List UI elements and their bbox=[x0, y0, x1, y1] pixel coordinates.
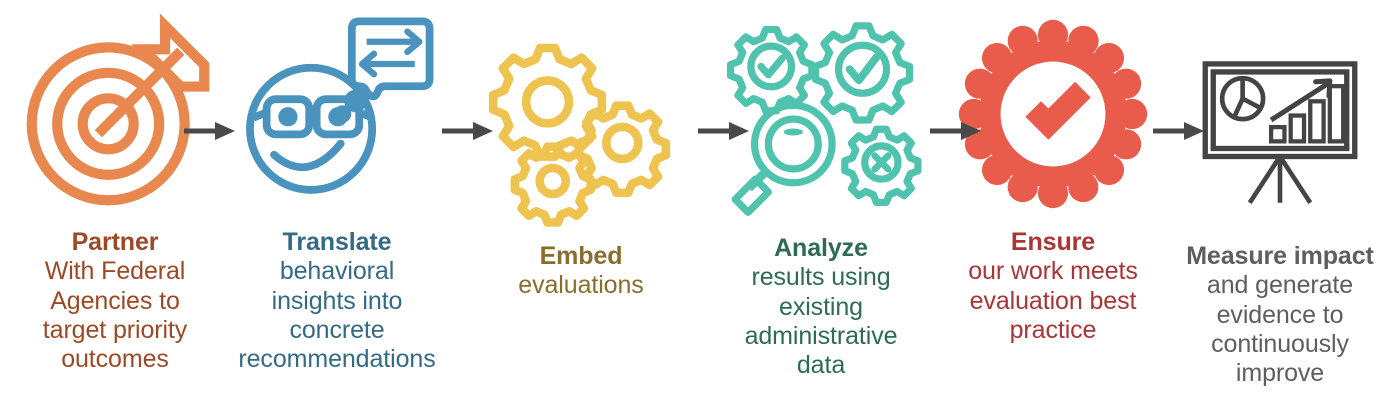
caption-line: practice bbox=[948, 316, 1158, 345]
caption-partner: Partner With Federal Agencies to target … bbox=[0, 228, 230, 374]
caption-analyze: Analyze results using existing administr… bbox=[710, 234, 932, 380]
caption-ensure: Ensure our work meets evaluation best pr… bbox=[948, 228, 1158, 345]
caption-line: administrative bbox=[710, 322, 932, 351]
caption-lead-measure: Measure impact bbox=[1168, 242, 1392, 271]
caption-line: outcomes bbox=[0, 345, 230, 374]
arrow-ensure-to-measure bbox=[1152, 118, 1206, 144]
caption-line: insights into bbox=[232, 287, 442, 316]
arrow-analyze-to-ensure bbox=[929, 118, 983, 144]
caption-line: Agencies to bbox=[0, 287, 230, 316]
caption-line: evaluations bbox=[470, 271, 692, 300]
caption-line: concrete bbox=[232, 316, 442, 345]
caption-line: data bbox=[710, 351, 932, 380]
caption-line: our work meets bbox=[948, 257, 1158, 286]
step-embed: Embed evaluations bbox=[470, 0, 692, 420]
arrow-embed-to-analyze bbox=[697, 118, 751, 144]
magnifier-and-gears-icon bbox=[725, 0, 917, 234]
arrow-partner-to-translate bbox=[183, 118, 237, 144]
step-partner: Partner With Federal Agencies to target … bbox=[0, 0, 230, 420]
caption-line: continuously bbox=[1168, 330, 1392, 359]
caption-lead-translate: Translate bbox=[232, 228, 442, 257]
caption-line: recommendations bbox=[232, 345, 442, 374]
caption-lead-analyze: Analyze bbox=[710, 234, 932, 263]
caption-line: and generate bbox=[1168, 271, 1392, 300]
caption-line: evaluation best bbox=[948, 287, 1158, 316]
caption-lead-ensure: Ensure bbox=[948, 228, 1158, 257]
caption-line: evidence to bbox=[1168, 301, 1392, 330]
caption-line: target priority bbox=[0, 316, 230, 345]
target-with-arrow-icon bbox=[14, 0, 216, 228]
caption-lead-partner: Partner bbox=[0, 228, 230, 257]
presentation-board-chart-icon bbox=[1191, 0, 1369, 242]
caption-translate: Translate behavioral insights into concr… bbox=[232, 228, 442, 374]
caption-line: results using bbox=[710, 263, 932, 292]
step-measure: Measure impact and generate evidence to … bbox=[1168, 0, 1392, 420]
step-translate: Translate behavioral insights into concr… bbox=[232, 0, 442, 420]
caption-line: existing bbox=[710, 293, 932, 322]
caption-measure: Measure impact and generate evidence to … bbox=[1168, 242, 1392, 388]
face-with-glasses-speech-bubble-icon bbox=[237, 0, 437, 228]
caption-line: With Federal bbox=[0, 257, 230, 286]
step-analyze: Analyze results using existing administr… bbox=[710, 0, 932, 420]
three-gears-icon bbox=[488, 0, 674, 242]
check-badge-icon bbox=[961, 0, 1145, 228]
caption-embed: Embed evaluations bbox=[470, 242, 692, 301]
process-flow-diagram: Partner With Federal Agencies to target … bbox=[0, 0, 1392, 420]
arrow-translate-to-embed bbox=[441, 118, 495, 144]
caption-line: behavioral bbox=[232, 257, 442, 286]
caption-lead-embed: Embed bbox=[470, 242, 692, 271]
step-ensure: Ensure our work meets evaluation best pr… bbox=[948, 0, 1158, 420]
caption-line: improve bbox=[1168, 359, 1392, 388]
